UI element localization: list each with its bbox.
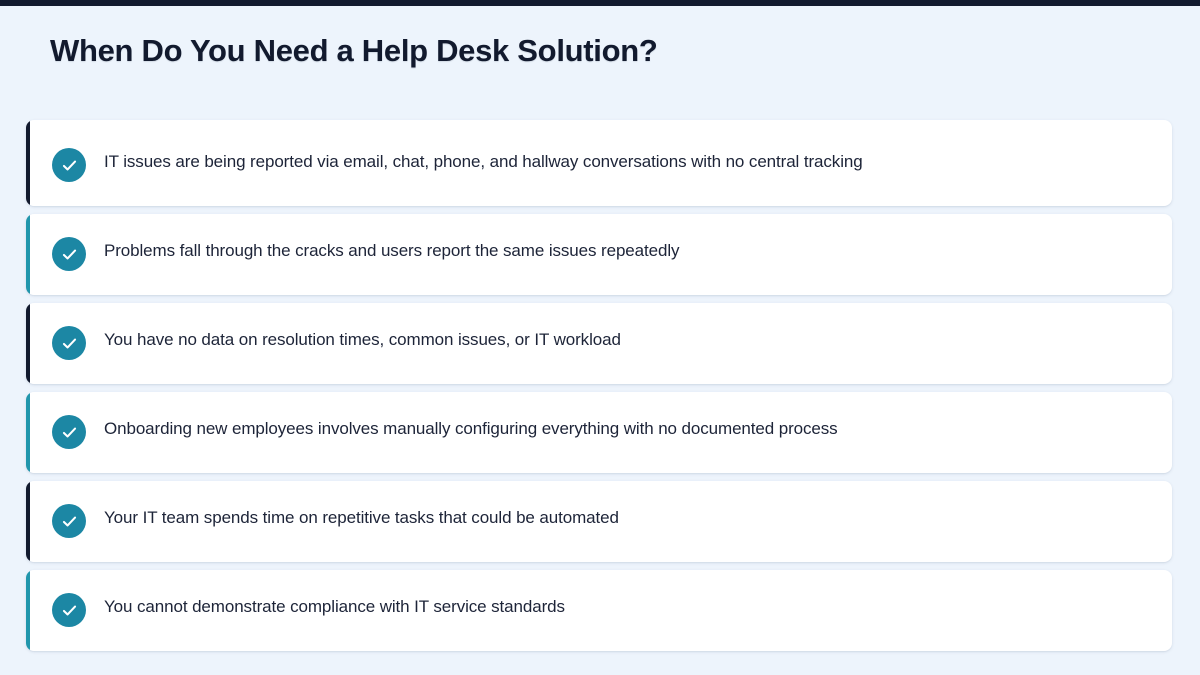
check-circle-icon bbox=[52, 415, 86, 449]
check-circle-icon bbox=[52, 237, 86, 271]
list-item-label: Problems fall through the cracks and use… bbox=[104, 231, 1148, 268]
check-circle-icon bbox=[52, 326, 86, 360]
list-item[interactable]: Your IT team spends time on repetitive t… bbox=[26, 481, 1172, 562]
accent-bar bbox=[26, 303, 30, 384]
check-circle-icon bbox=[52, 148, 86, 182]
list-item[interactable]: You have no data on resolution times, co… bbox=[26, 303, 1172, 384]
list-item-label: IT issues are being reported via email, … bbox=[104, 142, 1148, 179]
list-item-label: Your IT team spends time on repetitive t… bbox=[104, 498, 1148, 535]
accent-bar bbox=[26, 570, 30, 651]
top-accent-bar bbox=[0, 0, 1200, 6]
check-circle-icon bbox=[52, 504, 86, 538]
list-item[interactable]: You cannot demonstrate compliance with I… bbox=[26, 570, 1172, 651]
list-item-label: Onboarding new employees involves manual… bbox=[104, 409, 1148, 446]
list-item[interactable]: Onboarding new employees involves manual… bbox=[26, 392, 1172, 473]
list-item-label: You have no data on resolution times, co… bbox=[104, 320, 1148, 357]
accent-bar bbox=[26, 120, 30, 206]
list-item[interactable]: IT issues are being reported via email, … bbox=[26, 120, 1172, 206]
accent-bar bbox=[26, 481, 30, 562]
list-item[interactable]: Problems fall through the cracks and use… bbox=[26, 214, 1172, 295]
slide-root: When Do You Need a Help Desk Solution? I… bbox=[0, 0, 1200, 675]
check-circle-icon bbox=[52, 593, 86, 627]
accent-bar bbox=[26, 392, 30, 473]
accent-bar bbox=[26, 214, 30, 295]
page-title: When Do You Need a Help Desk Solution? bbox=[50, 30, 658, 72]
list-item-label: You cannot demonstrate compliance with I… bbox=[104, 587, 1148, 624]
checklist: IT issues are being reported via email, … bbox=[26, 120, 1172, 659]
